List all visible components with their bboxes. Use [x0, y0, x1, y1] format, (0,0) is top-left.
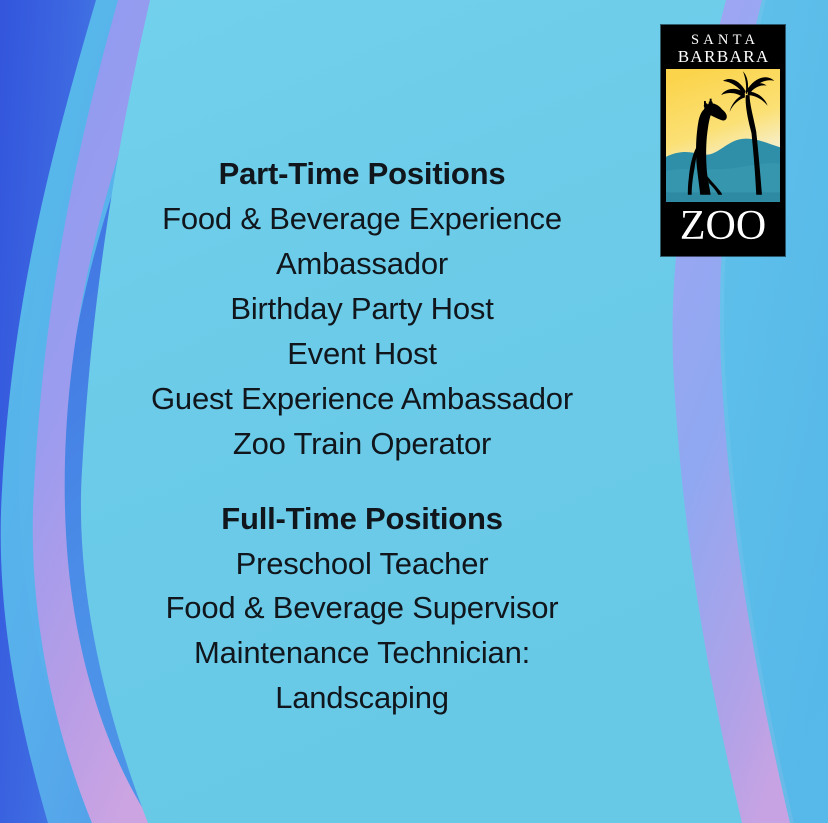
logo-line-santa: SANTA	[664, 33, 782, 48]
job-item: Food & Beverage Experience Ambassador	[92, 197, 632, 287]
job-item: Guest Experience Ambassador	[92, 377, 632, 422]
santa-barbara-zoo-logo: SANTA BARBARA	[661, 25, 785, 256]
job-item: Maintenance Technician: Landscaping	[92, 631, 632, 721]
job-item: Event Host	[92, 332, 632, 377]
logo-line-barbara: BARBARA	[664, 48, 782, 65]
job-openings-poster: SANTA BARBARA	[0, 0, 828, 823]
positions-list: Part-Time Positions Food & Beverage Expe…	[92, 0, 632, 823]
logo-artwork-giraffe-palm-sunset	[666, 69, 780, 202]
full-time-heading: Full-Time Positions	[92, 497, 632, 542]
logo-zoo-text: ZOO	[664, 202, 782, 253]
part-time-heading: Part-Time Positions	[92, 152, 632, 197]
part-time-section: Part-Time Positions Food & Beverage Expe…	[92, 152, 632, 467]
logo-wordmark: SANTA BARBARA	[664, 28, 782, 69]
job-item: Birthday Party Host	[92, 287, 632, 332]
job-item: Food & Beverage Supervisor	[92, 586, 632, 631]
job-item: Preschool Teacher	[92, 542, 632, 587]
full-time-section: Full-Time Positions Preschool Teacher Fo…	[92, 497, 632, 722]
job-item: Zoo Train Operator	[92, 422, 632, 467]
